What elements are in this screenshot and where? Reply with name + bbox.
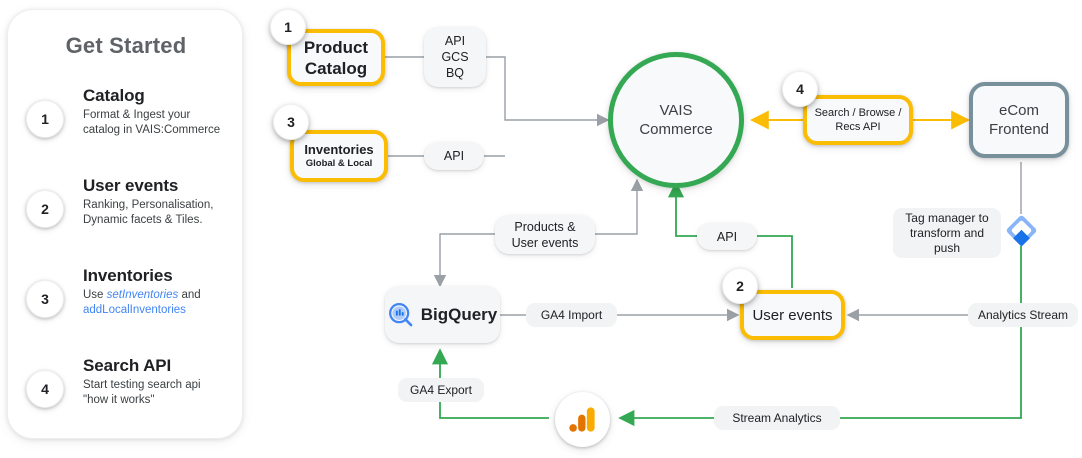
node-label-line-1: VAIS (659, 101, 692, 120)
node-bigquery[interactable]: BigQuery (385, 286, 500, 343)
step-badge-1: 1 (270, 9, 306, 45)
chip-line-3: BQ (446, 65, 464, 81)
chip-line-2: transform and (910, 226, 984, 241)
chip-line-1: API (445, 33, 465, 49)
node-label-line-1: Product (304, 37, 368, 58)
chip-line-2: GCS (441, 49, 468, 65)
node-label-line-2: Catalog (305, 58, 367, 79)
node-search-browse-recs-api[interactable]: Search / Browse / Recs API (803, 95, 913, 145)
google-analytics-icon-wrapper[interactable] (555, 392, 610, 447)
node-label-line-1: Search / Browse / (815, 106, 902, 120)
chip-line-1: Products & (514, 219, 575, 235)
node-analytics-stream[interactable]: Analytics Stream (968, 303, 1078, 327)
node-label-line-2: Frontend (989, 120, 1049, 139)
google-analytics-icon (567, 404, 598, 435)
node-vais-commerce[interactable]: VAIS Commerce (608, 52, 744, 188)
node-label-line-2: Global & Local (306, 158, 373, 170)
step-badge-3: 3 (273, 104, 309, 140)
node-ecom-frontend[interactable]: eCom Frontend (969, 82, 1069, 158)
node-ga4-import[interactable]: GA4 Import (526, 303, 617, 327)
node-stream-analytics[interactable]: Stream Analytics (714, 406, 840, 430)
node-inventories[interactable]: Inventories Global & Local (290, 130, 388, 182)
node-user-events[interactable]: User events (740, 290, 845, 340)
chip-label: GA4 Export (410, 383, 472, 398)
node-api-events[interactable]: API (697, 223, 757, 250)
node-ga4-export[interactable]: GA4 Export (398, 378, 484, 402)
chip-line-2: User events (512, 235, 579, 251)
node-label: User events (752, 307, 832, 324)
node-api-gcs-bq[interactable]: API GCS BQ (424, 27, 486, 87)
step-badge-4: 4 (782, 71, 818, 107)
node-products-user-events[interactable]: Products & User events (495, 215, 595, 254)
node-tag-manager-label[interactable]: Tag manager to transform and push (893, 208, 1001, 258)
node-label-line-1: Inventories (304, 142, 373, 158)
chip-label: Analytics Stream (978, 308, 1068, 323)
node-label: BigQuery (421, 307, 498, 323)
node-api-inventories[interactable]: API (424, 142, 484, 170)
chip-label: API (717, 229, 737, 245)
step-badge-2: 2 (722, 268, 758, 304)
google-tag-manager-icon (1003, 212, 1040, 249)
architecture-diagram: Product Catalog 1 Inventories Global & L… (0, 0, 1082, 458)
node-label-line-2: Recs API (835, 120, 880, 134)
node-label-line-1: eCom (999, 101, 1039, 120)
chip-line-1: Tag manager to (905, 211, 988, 226)
chip-line-3: push (934, 241, 960, 256)
chip-label: GA4 Import (541, 308, 602, 323)
chip-label: Stream Analytics (732, 411, 821, 426)
node-label-line-2: Commerce (639, 120, 712, 139)
bigquery-icon (388, 302, 414, 328)
chip-label: API (444, 148, 464, 164)
